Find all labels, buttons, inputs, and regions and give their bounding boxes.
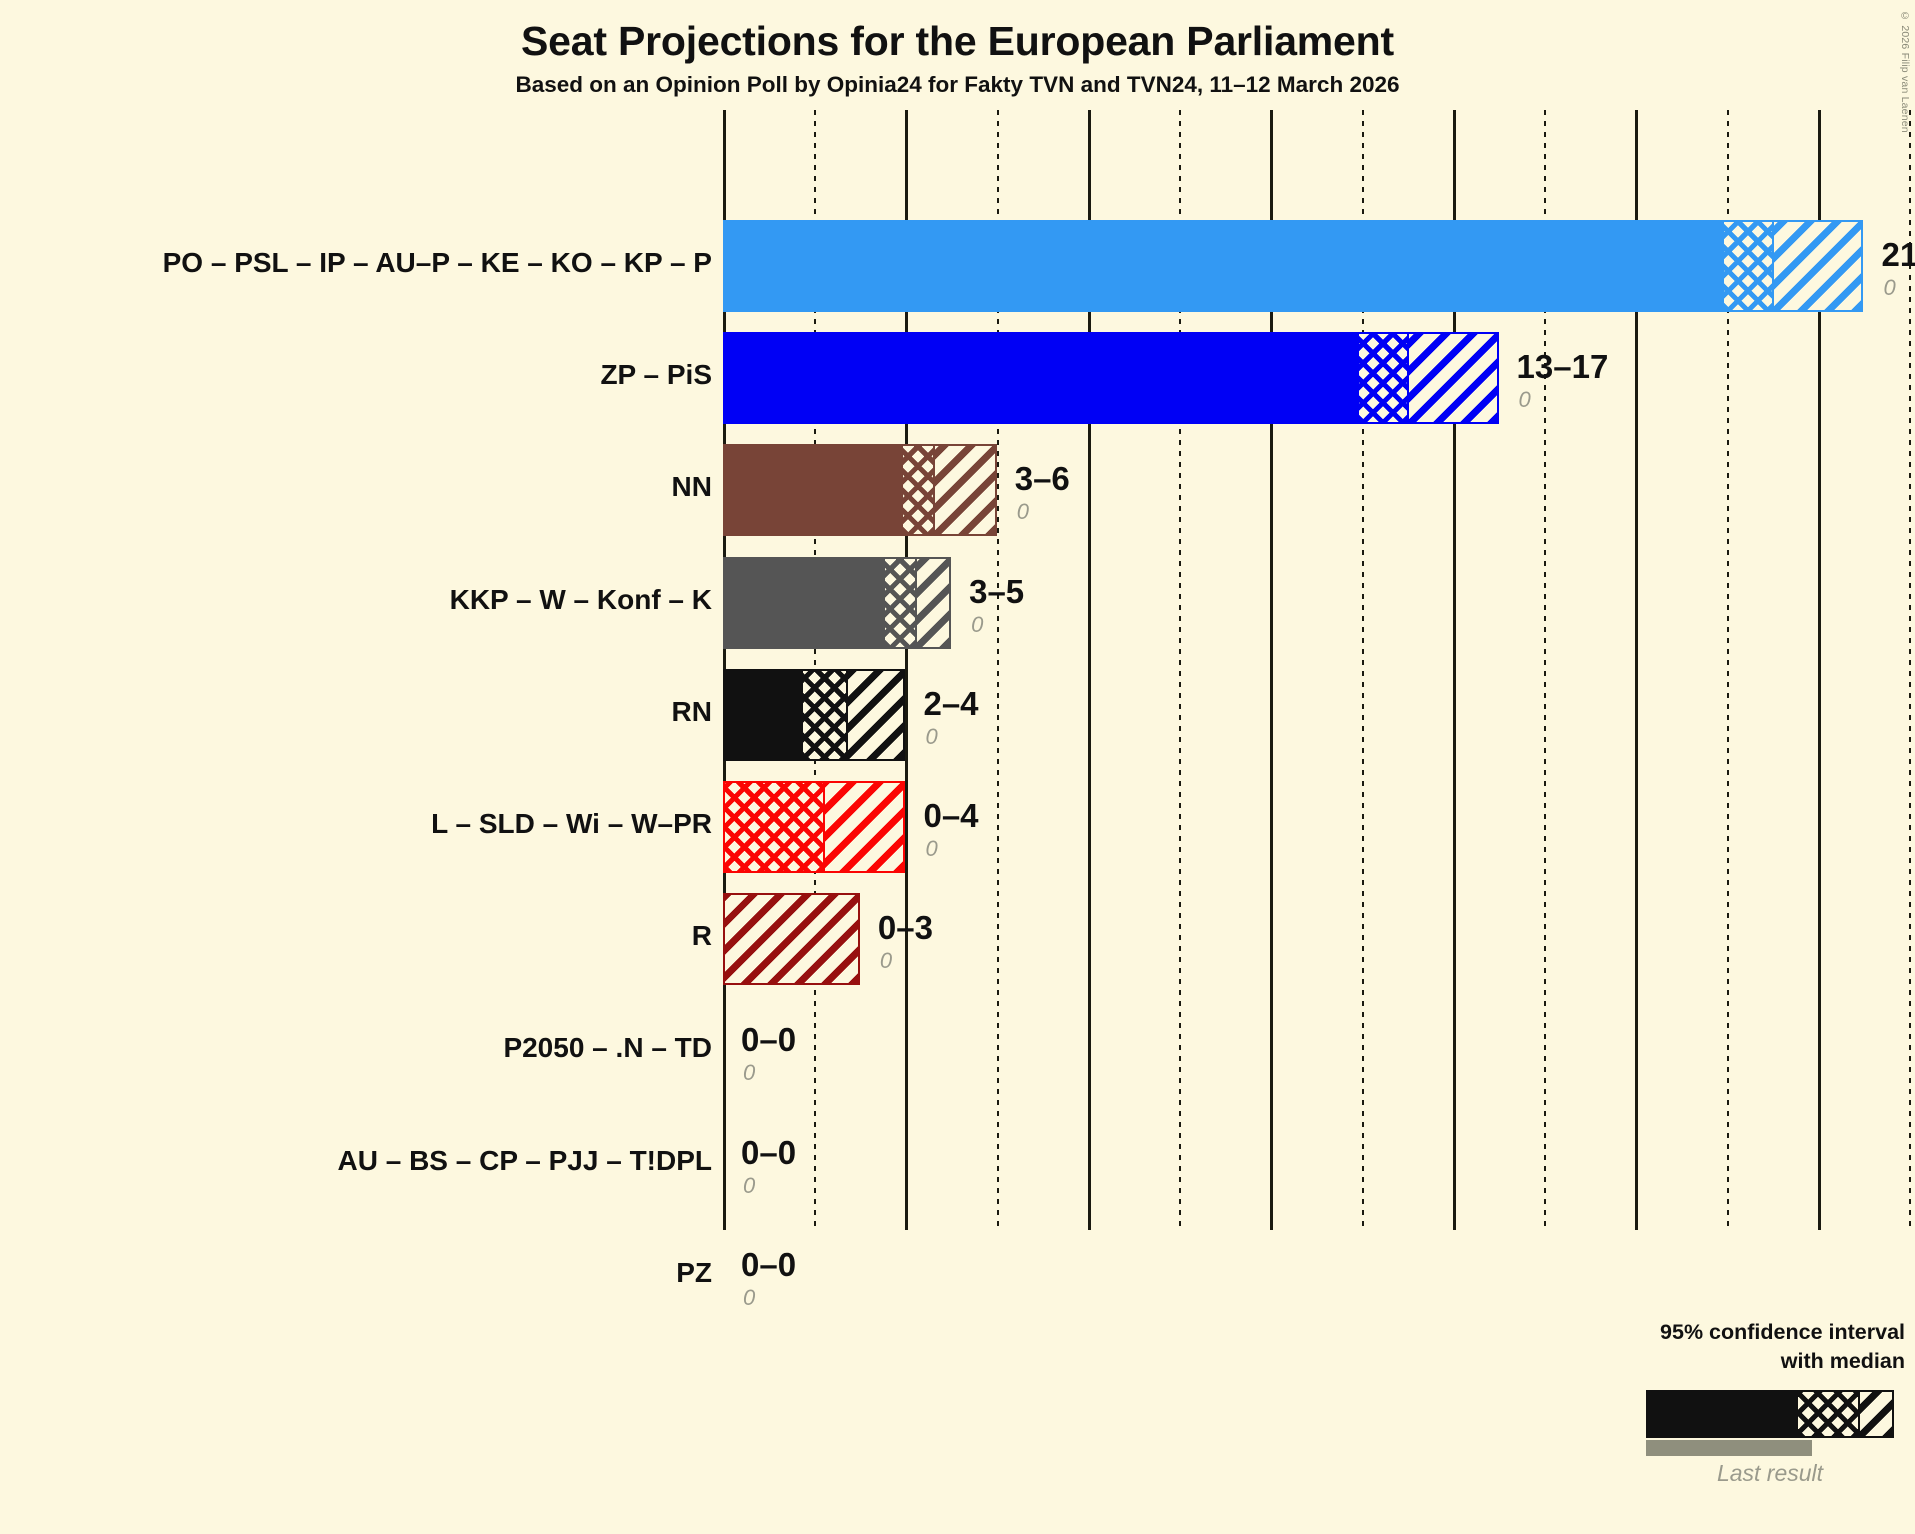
last-result-label: 0 xyxy=(1519,387,1531,413)
legend-title-line1: 95% confidence interval xyxy=(1560,1318,1905,1347)
bar-upper-segment xyxy=(846,669,905,761)
chart-row: L – SLD – Wi – W–PR0–40 xyxy=(0,781,1915,873)
bar-median-segment xyxy=(901,444,935,536)
ci-bar xyxy=(723,669,905,761)
legend-last-result-label: Last result xyxy=(1646,1460,1894,1487)
value-range-label: 0–4 xyxy=(923,797,978,835)
bar-solid-segment xyxy=(723,332,1359,424)
last-result-label: 0 xyxy=(971,612,983,638)
chart-root: Seat Projections for the European Parlia… xyxy=(0,0,1915,1534)
row-label: RN xyxy=(672,696,712,728)
row-label: NN xyxy=(672,471,712,503)
value-range-label: 0–3 xyxy=(878,909,933,947)
bar-median-segment xyxy=(1357,332,1409,424)
last-result-label: 0 xyxy=(1884,275,1896,301)
last-result-label: 0 xyxy=(925,724,937,750)
chart-row: PZ0–00 xyxy=(0,1230,1915,1322)
bar-median-segment xyxy=(801,669,849,761)
value-range-label: 21–25 xyxy=(1882,236,1915,274)
chart-row: PO – PSL – IP – AU–P – KE – KO – KP – P2… xyxy=(0,220,1915,312)
legend-upper-segment xyxy=(1858,1390,1894,1438)
row-label: AU – BS – CP – PJJ – T!DPL xyxy=(338,1145,713,1177)
chart-row: R0–30 xyxy=(0,893,1915,985)
row-label: P2050 – .N – TD xyxy=(503,1032,712,1064)
bar-solid-segment xyxy=(723,557,885,649)
bar-upper-segment xyxy=(1407,332,1498,424)
chart-row: RN2–40 xyxy=(0,669,1915,761)
ci-bar xyxy=(723,220,1864,312)
value-range-label: 2–4 xyxy=(923,685,978,723)
chart-row: ZP – PiS13–170 xyxy=(0,332,1915,424)
chart-subtitle: Based on an Opinion Poll by Opinia24 for… xyxy=(0,72,1915,98)
bar-upper-segment xyxy=(915,557,951,649)
row-label: L – SLD – Wi – W–PR xyxy=(431,808,712,840)
ci-bar xyxy=(723,444,997,536)
bar-median-segment xyxy=(1722,220,1774,312)
value-range-label: 3–6 xyxy=(1015,460,1070,498)
bar-solid-segment xyxy=(723,220,1724,312)
ci-bar xyxy=(723,332,1499,424)
value-range-label: 3–5 xyxy=(969,573,1024,611)
value-range-label: 0–0 xyxy=(741,1134,796,1172)
bar-upper-segment xyxy=(723,893,860,985)
chart-row: P2050 – .N – TD0–00 xyxy=(0,1005,1915,1097)
legend: 95% confidence interval with median Last… xyxy=(1560,1318,1905,1376)
legend-ci-bar xyxy=(1646,1390,1894,1438)
bar-solid-segment xyxy=(723,669,803,761)
bar-solid-segment xyxy=(723,444,903,536)
bars-layer: PO – PSL – IP – AU–P – KE – KO – KP – P2… xyxy=(0,110,1915,1230)
value-range-label: 0–0 xyxy=(741,1021,796,1059)
legend-median-segment xyxy=(1796,1390,1860,1438)
chart-row: KKP – W – Konf – K3–50 xyxy=(0,557,1915,649)
value-range-label: 0–0 xyxy=(741,1246,796,1284)
bar-upper-segment xyxy=(933,444,997,536)
bar-median-segment xyxy=(883,557,917,649)
last-result-label: 0 xyxy=(1017,499,1029,525)
ci-bar xyxy=(723,781,905,873)
bar-upper-segment xyxy=(1772,220,1863,312)
row-label: PZ xyxy=(676,1257,712,1289)
last-result-label: 0 xyxy=(743,1060,755,1086)
row-label: KKP – W – Konf – K xyxy=(450,584,712,616)
last-result-label: 0 xyxy=(743,1173,755,1199)
bar-median-segment xyxy=(723,781,825,873)
chart-row: AU – BS – CP – PJJ – T!DPL0–00 xyxy=(0,1118,1915,1210)
legend-solid-segment xyxy=(1646,1390,1798,1438)
chart-row: NN3–60 xyxy=(0,444,1915,536)
bar-upper-segment xyxy=(823,781,905,873)
last-result-label: 0 xyxy=(743,1285,755,1311)
ci-bar xyxy=(723,893,860,985)
last-result-label: 0 xyxy=(880,948,892,974)
legend-last-result-bar xyxy=(1646,1440,1812,1456)
last-result-label: 0 xyxy=(925,836,937,862)
value-range-label: 13–17 xyxy=(1517,348,1609,386)
page-title: Seat Projections for the European Parlia… xyxy=(0,18,1915,65)
ci-bar xyxy=(723,557,951,649)
row-label: PO – PSL – IP – AU–P – KE – KO – KP – P xyxy=(163,247,712,279)
row-label: R xyxy=(692,920,712,952)
legend-title-line2: with median xyxy=(1560,1347,1905,1376)
row-label: ZP – PiS xyxy=(600,359,712,391)
